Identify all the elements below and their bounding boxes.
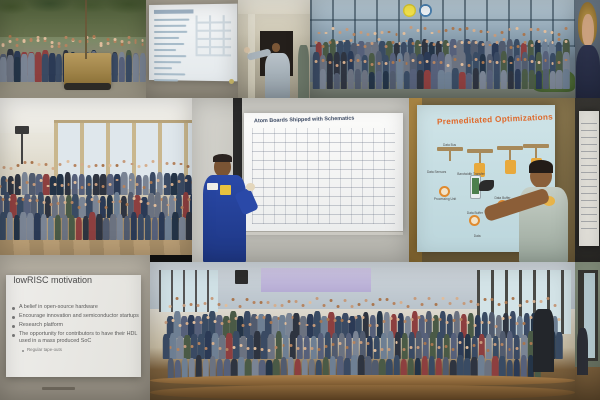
circle-icon bbox=[469, 215, 480, 226]
bullet-dot-icon bbox=[12, 307, 15, 310]
diagram-node-data-bus: Data Bus bbox=[437, 143, 463, 161]
person-figure bbox=[21, 40, 28, 82]
person-figure bbox=[0, 44, 7, 83]
sub-bullet-dot-icon bbox=[22, 350, 24, 352]
camera bbox=[15, 126, 28, 134]
person-figure bbox=[521, 58, 528, 89]
person-figure bbox=[486, 60, 493, 89]
presenter-body bbox=[265, 53, 289, 98]
person-figure bbox=[41, 201, 48, 240]
person-figure bbox=[7, 40, 14, 82]
cart-wheels bbox=[64, 83, 111, 90]
person-figure bbox=[125, 41, 132, 82]
person-figure bbox=[320, 59, 327, 89]
wooden-cart bbox=[64, 53, 111, 86]
diagram-node-processing-unit: Processing Unit bbox=[434, 186, 456, 201]
auditorium-scene bbox=[150, 262, 575, 400]
sub-bullet-item: Regular tape-outs bbox=[22, 347, 147, 352]
lecture-hall-audience-photo bbox=[0, 98, 192, 255]
lowrisc-scene: lowRISC motivation A belief in open-sour… bbox=[0, 255, 150, 400]
bullet-dot-icon bbox=[12, 334, 15, 337]
person-figure bbox=[89, 198, 96, 240]
building-logo-blue-icon bbox=[419, 4, 432, 17]
slide-title-bar bbox=[154, 9, 194, 14]
stem bbox=[479, 153, 481, 163]
person-figure bbox=[151, 204, 158, 240]
person-figure bbox=[334, 64, 341, 89]
person-silhouette bbox=[577, 328, 588, 375]
handwritten-notes bbox=[581, 122, 597, 230]
bullet-item: Encourage innovation and semiconductor s… bbox=[12, 313, 147, 319]
person-figure bbox=[103, 206, 110, 240]
lobby-scene bbox=[238, 0, 310, 98]
label-data: Data bbox=[474, 234, 481, 238]
person-figure bbox=[82, 203, 89, 240]
bullet-dot-icon bbox=[12, 316, 15, 319]
speaker-pointing-photo bbox=[238, 0, 310, 98]
speaker-hair bbox=[529, 160, 552, 173]
person-figure bbox=[20, 198, 27, 241]
presenter-head bbox=[272, 43, 281, 52]
person-figure bbox=[549, 62, 556, 89]
circle-icon bbox=[439, 186, 450, 197]
speaker-badge bbox=[207, 183, 218, 190]
person-figure bbox=[27, 199, 34, 240]
person-figure bbox=[327, 61, 334, 89]
slide-data-table bbox=[196, 15, 232, 56]
person-figure bbox=[96, 200, 103, 241]
label-data-buffer-1: Data Buffer bbox=[467, 211, 483, 215]
glass-building-scene bbox=[310, 0, 575, 98]
person-figure bbox=[34, 199, 41, 241]
wall-speaker bbox=[235, 270, 248, 284]
group-photo-glass-building bbox=[310, 0, 575, 98]
stem bbox=[449, 151, 451, 161]
stem bbox=[535, 148, 537, 158]
lecture-hall-scene bbox=[0, 98, 192, 255]
woodland-scene bbox=[0, 0, 146, 98]
person-figure bbox=[61, 201, 68, 240]
person-figure bbox=[347, 59, 354, 89]
diagram-node-3 bbox=[497, 146, 523, 174]
person-figure bbox=[172, 198, 179, 240]
standing-facilitator bbox=[533, 309, 554, 372]
tripod bbox=[21, 129, 23, 164]
person-figure bbox=[139, 39, 146, 83]
bullet-dot-icon bbox=[12, 325, 15, 328]
person-figure bbox=[493, 61, 500, 89]
person-figure bbox=[144, 202, 151, 241]
speaker-logo bbox=[220, 185, 231, 195]
corridor-scene bbox=[575, 262, 600, 400]
person-figure bbox=[382, 62, 389, 89]
person-figure bbox=[179, 206, 186, 241]
person-figure bbox=[556, 61, 563, 89]
projection-screen-glow bbox=[261, 268, 372, 293]
projection-screen bbox=[149, 4, 237, 82]
person-figure bbox=[389, 61, 396, 89]
person-figure bbox=[117, 200, 124, 240]
photo-collage: Atom Boards Shipped with Schematics Prem… bbox=[0, 0, 600, 400]
person-figure bbox=[431, 61, 438, 89]
person-figure bbox=[124, 203, 131, 241]
audience-row-3 bbox=[0, 198, 192, 240]
diagram-node-data-buffer-1: Data Buffer bbox=[467, 211, 483, 226]
person-figure bbox=[445, 64, 452, 89]
person-figure bbox=[452, 58, 459, 89]
lowrisc-motivation-slide-photo: lowRISC motivation A belief in open-sour… bbox=[0, 255, 150, 400]
projection-screen: Atom Boards Shipped with Schematics bbox=[244, 113, 402, 231]
premeditated-slide-title: Premeditated Optimizations bbox=[436, 112, 552, 126]
person-figure bbox=[6, 198, 13, 240]
speaker-hair bbox=[213, 154, 233, 162]
person-figure bbox=[130, 197, 137, 240]
person-figure bbox=[361, 60, 368, 89]
person-figure bbox=[375, 62, 382, 89]
foliage-layer bbox=[0, 0, 146, 37]
label-data-wrap: Data bbox=[474, 234, 481, 238]
person-figure bbox=[556, 318, 563, 360]
diagram-node-data-sensors: Data Sensors bbox=[427, 170, 446, 174]
stem bbox=[509, 150, 511, 160]
box-icon bbox=[505, 160, 516, 174]
bench-lower bbox=[150, 385, 575, 400]
bullet-item: Research platform bbox=[12, 322, 147, 328]
schematics-slide-title: Atom Boards Shipped with Schematics bbox=[254, 116, 354, 125]
person-figure bbox=[535, 61, 542, 89]
whiteboard bbox=[579, 111, 599, 246]
person-figure bbox=[56, 45, 63, 83]
person-figure bbox=[466, 64, 473, 89]
person-figure bbox=[14, 44, 21, 83]
bystander bbox=[298, 45, 308, 98]
person-figure bbox=[68, 201, 75, 240]
person-figure bbox=[118, 43, 125, 82]
bullet-text: Encourage innovation and semiconductor s… bbox=[19, 313, 139, 319]
premeditated-scene: Premeditated Optimizations Data Bus Data… bbox=[409, 98, 575, 262]
screen-ledge bbox=[244, 231, 402, 235]
person-figure bbox=[354, 59, 361, 89]
meeting-room-scene bbox=[146, 0, 238, 98]
person-figure bbox=[111, 38, 118, 83]
face bbox=[582, 14, 594, 47]
person-figure bbox=[507, 62, 514, 89]
person-figure bbox=[167, 346, 174, 382]
schematic-diagram bbox=[252, 128, 395, 224]
person-figure bbox=[514, 58, 521, 89]
person-figure bbox=[35, 36, 42, 82]
person-figure bbox=[13, 202, 20, 241]
whiteboard-scene bbox=[575, 98, 600, 262]
sub-bullet-text: Regular tape-outs bbox=[27, 347, 62, 352]
bullet-item: The opportunity for contributors to have… bbox=[12, 331, 147, 344]
person-figure bbox=[75, 206, 82, 241]
person-figure bbox=[438, 61, 445, 89]
bullet-item: A belief in open-source hardware bbox=[12, 304, 147, 310]
person-figure bbox=[132, 39, 139, 82]
person-figure bbox=[313, 60, 320, 89]
bullet-text: The opportunity for contributors to have… bbox=[19, 331, 147, 344]
person-figure bbox=[28, 38, 35, 83]
whiteboard-photo bbox=[575, 98, 600, 262]
person-figure bbox=[54, 202, 61, 241]
presentation-slide-photo bbox=[146, 0, 238, 98]
person-figure bbox=[42, 40, 49, 83]
person-figure bbox=[480, 61, 487, 89]
label-data-sensors: Data Sensors bbox=[427, 170, 446, 174]
attendee-portrait-photo bbox=[575, 0, 600, 98]
auditorium-group-photo bbox=[150, 262, 575, 400]
ceiling-band bbox=[238, 0, 310, 14]
person-figure bbox=[500, 60, 507, 89]
person-figure bbox=[410, 59, 417, 89]
building-logo-yellow-icon bbox=[403, 4, 416, 17]
person-figure bbox=[165, 204, 172, 241]
lowrisc-bullet-list: A belief in open-source hardware Encoura… bbox=[12, 304, 147, 351]
person-figure bbox=[368, 63, 375, 89]
screen-tray bbox=[42, 387, 75, 390]
person-figure bbox=[417, 61, 424, 89]
lowrisc-slide-title: lowRISC motivation bbox=[14, 275, 93, 285]
slide-text-lines bbox=[154, 18, 190, 85]
label-processing-unit: Processing Unit bbox=[434, 197, 456, 201]
person-figure bbox=[340, 61, 347, 89]
person-figure bbox=[158, 198, 165, 240]
schematics-talk-photo: Atom Boards Shipped with Schematics bbox=[192, 98, 409, 262]
person-figure bbox=[49, 45, 56, 83]
person-figure bbox=[563, 59, 570, 89]
person-figure bbox=[396, 59, 403, 89]
outdoor-group-photo bbox=[0, 0, 146, 98]
bullet-text: Research platform bbox=[19, 322, 63, 328]
corridor-window-photo bbox=[575, 262, 600, 400]
person-figure bbox=[473, 58, 480, 89]
person-figure bbox=[424, 60, 431, 89]
projector-beam-edge bbox=[229, 79, 234, 84]
person-figure bbox=[48, 203, 55, 241]
person-figure bbox=[137, 200, 144, 240]
torso bbox=[576, 45, 600, 98]
person-figure bbox=[403, 62, 410, 88]
person-figure bbox=[110, 201, 117, 241]
crowd-row-crouching bbox=[313, 59, 570, 89]
schematics-scene: Atom Boards Shipped with Schematics bbox=[192, 98, 409, 262]
premeditated-optimizations-talk-photo: Premeditated Optimizations Data Bus Data… bbox=[409, 98, 575, 262]
person-figure bbox=[459, 63, 466, 89]
cart-pole bbox=[85, 0, 87, 59]
person-figure bbox=[528, 60, 535, 89]
portrait-scene bbox=[575, 0, 600, 98]
person-figure bbox=[542, 59, 549, 89]
bullet-text: A belief in open-source hardware bbox=[19, 304, 98, 310]
